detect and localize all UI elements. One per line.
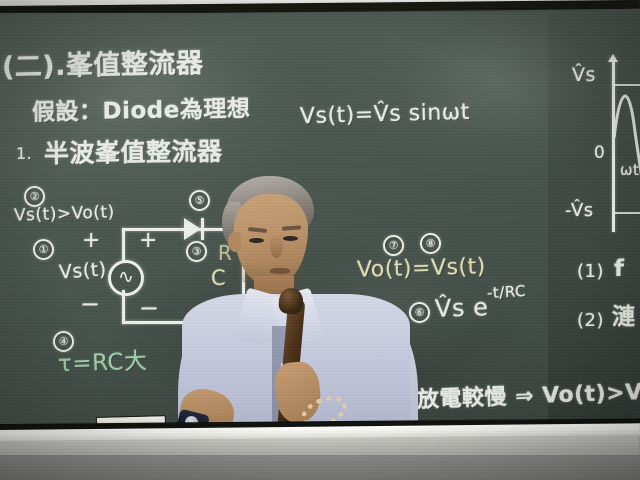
ac-source-symbol [108, 260, 144, 296]
source-plus-sign: + [82, 230, 101, 252]
board-heading: (二).峯值整流器 [2, 50, 204, 81]
right-list-text-1: f [614, 258, 625, 281]
board-assumption: 假設：Diode為理想 [32, 98, 251, 125]
time-constant-note: τ=RC大 [58, 350, 148, 376]
lecturer-eye-right [283, 236, 298, 241]
board-section-number: 1. [16, 146, 32, 162]
right-list-marker-2: (2) [577, 312, 604, 330]
annotation-number-4: ④ [53, 331, 74, 352]
lecturer-nose [270, 234, 283, 258]
graph-y-axis-arrow [608, 54, 618, 62]
board-condition-note: Vs(t)>Vo(t) [14, 204, 115, 225]
annotation-number-8: ⑧ [420, 233, 441, 254]
floor-strip [0, 455, 640, 480]
annotation-number-1: ① [33, 239, 54, 260]
right-list-marker-1: (1) [577, 263, 604, 281]
lecturer-eye-left [249, 238, 264, 243]
board-section-title: 半波峯值整流器 [44, 139, 223, 166]
graph-origin-label: 0 [594, 145, 605, 162]
output-minus-sign: − [139, 296, 160, 320]
circuit-wire-left-vertical [122, 228, 125, 262]
graph-y-bottom-label: -V̂s [565, 202, 594, 220]
output-equation-exponent: -t/RC [487, 284, 527, 301]
output-plus-sign: + [139, 230, 158, 252]
graph-y-top-label: V̂s [572, 66, 596, 85]
source-minus-sign: − [80, 292, 101, 316]
right-list-text-2: 漣 [612, 306, 636, 329]
lecturer-mouth [270, 268, 290, 274]
ac-source-label: Vs(t) [58, 260, 107, 282]
graph-trough-dashline [614, 212, 640, 214]
output-equation-2: V̂s e [435, 295, 489, 321]
board-assumption-formula: Vs(t)=V̂s sinωt [300, 102, 470, 128]
lecture-video-frame: (二).峯值整流器 假設：Diode為理想 Vs(t)=V̂s sinωt 1.… [0, 0, 640, 480]
graph-sine-curve [614, 78, 640, 208]
lecturer-ear [228, 232, 241, 252]
